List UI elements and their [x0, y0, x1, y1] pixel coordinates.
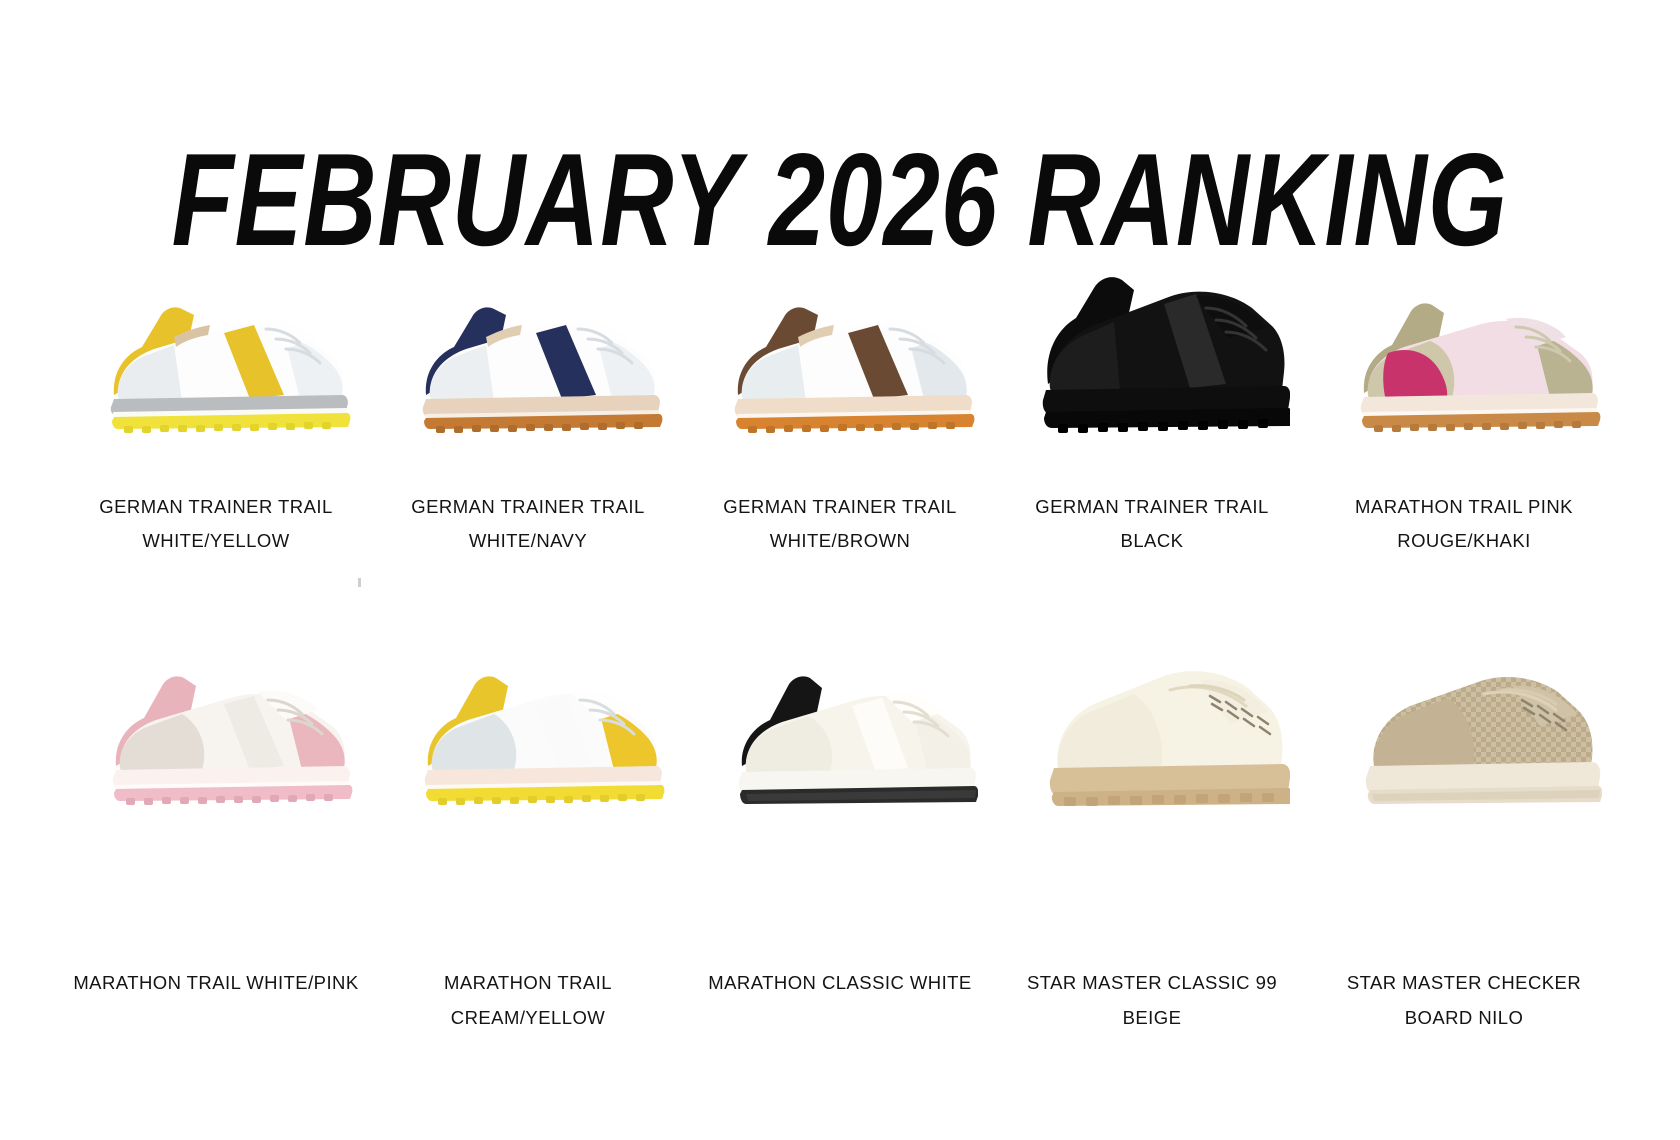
product-caption-3: GERMAN TRAINER TRAIL WHITE/BROWN [695, 490, 985, 558]
product-card-2[interactable]: GERMAN TRAINER TRAIL WHITE/NAVY [372, 228, 684, 558]
product-name-line2: WHITE/NAVY [383, 524, 673, 558]
product-image-1 [66, 228, 366, 478]
product-name-line1: STAR MASTER CHECKER [1319, 966, 1609, 1000]
product-card-4[interactable]: GERMAN TRAINER TRAIL BLACK [996, 228, 1308, 558]
marathon-trail-cream-yellow-icon [390, 642, 666, 810]
product-name-line2: WHITE/BROWN [695, 524, 985, 558]
product-image-5 [1314, 228, 1614, 478]
product-caption-6: MARATHON TRAIL WHITE/PINK [71, 966, 361, 1000]
product-image-9 [1002, 596, 1302, 856]
product-caption-9: STAR MASTER CLASSIC 99 BEIGE [1007, 966, 1297, 1034]
product-name-line2: CREAM/YELLOW [383, 1001, 673, 1035]
product-image-7 [378, 596, 678, 856]
product-name-line1: GERMAN TRAINER TRAIL [695, 490, 985, 524]
product-caption-2: GERMAN TRAINER TRAIL WHITE/NAVY [383, 490, 673, 558]
german-trainer-trail-black-icon [1014, 264, 1290, 442]
product-name-line1: MARATHON TRAIL WHITE/PINK [71, 966, 361, 1000]
product-name-line2: WHITE/YELLOW [71, 524, 361, 558]
product-name-line1: GERMAN TRAINER TRAIL [71, 490, 361, 524]
ranking-page: FEBRUARY 2026 RANKING [0, 0, 1680, 1140]
marathon-trail-pink-rouge-khaki-icon [1326, 269, 1602, 437]
product-card-3[interactable]: GERMAN TRAINER TRAIL WHITE/BROWN [684, 228, 996, 558]
marathon-trail-white-pink-icon [78, 642, 354, 810]
product-caption-8: MARATHON CLASSIC WHITE [695, 966, 985, 1000]
grid-row-spacer [60, 558, 1620, 596]
product-name-line1: STAR MASTER CLASSIC 99 [1007, 966, 1297, 1000]
product-name-line1: MARATHON CLASSIC WHITE [695, 966, 985, 1000]
product-card-10[interactable]: STAR MASTER CHECKER BOARD NILO [1308, 596, 1620, 1034]
product-caption-5: MARATHON TRAIL PINK ROUGE/KHAKI [1319, 490, 1609, 558]
product-name-line1: MARATHON TRAIL [383, 966, 673, 1000]
product-caption-1: GERMAN TRAINER TRAIL WHITE/YELLOW [71, 490, 361, 558]
product-name-line2: ROUGE/KHAKI [1319, 524, 1609, 558]
product-card-1[interactable]: GERMAN TRAINER TRAIL WHITE/YELLOW [60, 228, 372, 558]
marathon-classic-white-icon [702, 642, 978, 810]
product-image-8 [690, 596, 990, 856]
product-image-10 [1314, 596, 1614, 856]
german-trainer-trail-white-yellow-icon [78, 269, 354, 437]
product-card-6[interactable]: MARATHON TRAIL WHITE/PINK [60, 596, 372, 1034]
product-image-6 [66, 596, 366, 856]
product-image-2 [378, 228, 678, 478]
german-trainer-trail-white-navy-icon [390, 269, 666, 437]
product-card-9[interactable]: STAR MASTER CLASSIC 99 BEIGE [996, 596, 1308, 1034]
star-master-checker-board-nilo-icon [1326, 642, 1602, 810]
german-trainer-trail-white-brown-icon [702, 269, 978, 437]
product-card-7[interactable]: MARATHON TRAIL CREAM/YELLOW [372, 596, 684, 1034]
product-name-line1: GERMAN TRAINER TRAIL [383, 490, 673, 524]
star-master-classic-99-beige-icon [1014, 642, 1290, 810]
product-name-line1: MARATHON TRAIL PINK [1319, 490, 1609, 524]
product-name-line1: GERMAN TRAINER TRAIL BLACK [1007, 490, 1297, 558]
product-caption-7: MARATHON TRAIL CREAM/YELLOW [383, 966, 673, 1034]
product-caption-10: STAR MASTER CHECKER BOARD NILO [1319, 966, 1609, 1034]
product-card-8[interactable]: MARATHON CLASSIC WHITE [684, 596, 996, 1034]
product-image-4 [1002, 228, 1302, 478]
product-name-line2: BEIGE [1007, 1001, 1297, 1035]
product-image-3 [690, 228, 990, 478]
product-grid: GERMAN TRAINER TRAIL WHITE/YELLOW [60, 228, 1620, 1035]
product-caption-4: GERMAN TRAINER TRAIL BLACK [1007, 490, 1297, 558]
product-name-line2: BOARD NILO [1319, 1001, 1609, 1035]
product-card-5[interactable]: MARATHON TRAIL PINK ROUGE/KHAKI [1308, 228, 1620, 558]
